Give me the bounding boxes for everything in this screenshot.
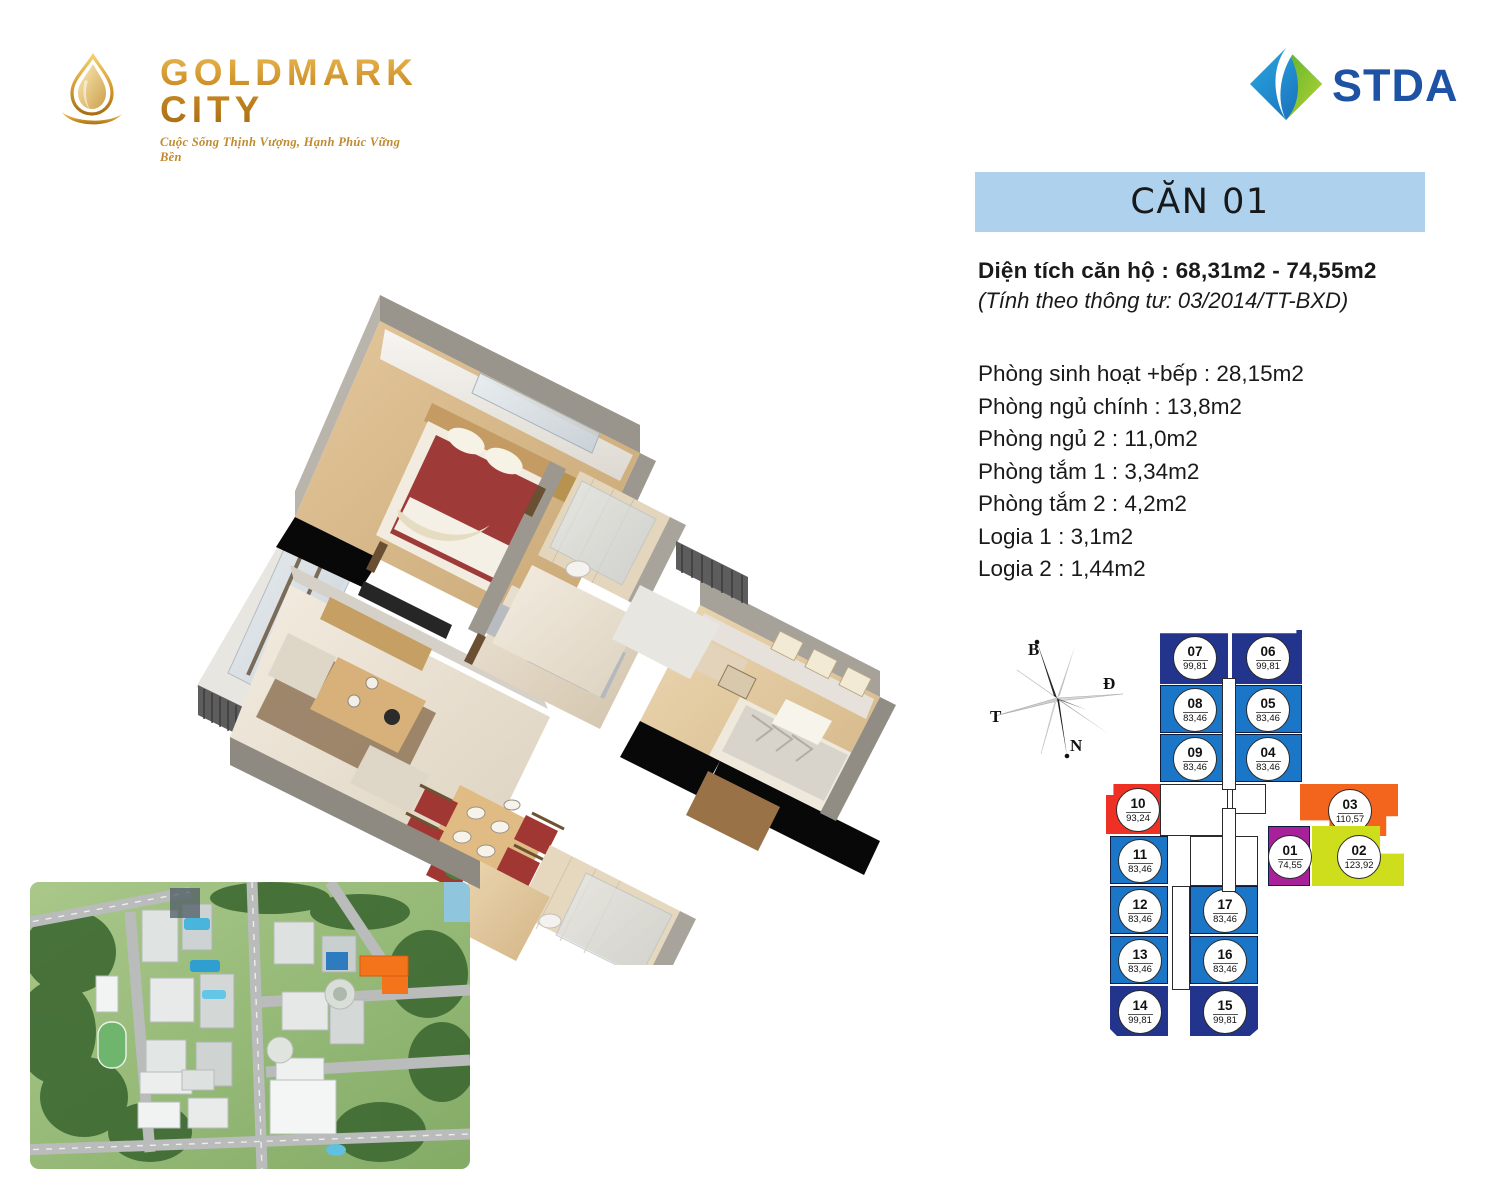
room-area-row: Phòng ngủ 2 : 11,0m2 [978, 423, 1448, 456]
unit-number: 07 [1187, 645, 1202, 659]
room-area-row: Logia 1 : 3,1m2 [978, 521, 1448, 554]
room-area-row: Logia 2 : 1,44m2 [978, 553, 1448, 586]
developer-logo: STDA [1246, 44, 1451, 126]
brand-tagline: Cuộc Sống Thịnh Vượng, Hạnh Phúc Vững Bề… [160, 135, 418, 165]
render-table-bowl-1 [366, 677, 378, 689]
room-area-row: Phòng sinh hoạt +bếp : 28,15m2 [978, 358, 1448, 391]
unit-area: 83,46 [1213, 965, 1237, 975]
floor-key-plan: 0799,810699,810883,460583,460983,460483,… [1110, 628, 1415, 1038]
keyplan-corridor-vertical-bottom [1172, 886, 1190, 990]
page-title: CĂN 01 [975, 172, 1425, 232]
unit-area: 83,46 [1128, 865, 1152, 875]
keyplan-unit-badge-14: 1499,81 [1118, 990, 1162, 1034]
room-area-row: Phòng ngủ chính : 13,8m2 [978, 391, 1448, 424]
stda-diamond-icon [1246, 44, 1326, 124]
unit-area: 83,46 [1213, 915, 1237, 925]
unit-area: 74,55 [1278, 861, 1302, 871]
unit-area: 99,81 [1213, 1016, 1237, 1026]
unit-number: 12 [1132, 898, 1147, 912]
sitemap-sports-field [98, 1022, 126, 1068]
unit-area: 99,81 [1256, 662, 1280, 672]
unit-number: 05 [1260, 697, 1275, 711]
sitemap-river [444, 882, 470, 922]
page-title-label: CĂN 01 [1130, 182, 1269, 222]
developer-name: STDA [1332, 60, 1459, 112]
unit-number: 10 [1130, 797, 1145, 811]
unit-number: 14 [1132, 999, 1147, 1013]
total-area-label: Diện tích căn hộ : 68,31m2 - 74,55m2 [978, 258, 1448, 284]
keyplan-unit-badge-15: 1599,81 [1203, 990, 1247, 1034]
keyplan-unit-badge-08: 0883,46 [1173, 688, 1217, 732]
render-table-bowl-2 [348, 695, 360, 707]
keyplan-unit-badge-12: 1283,46 [1118, 889, 1162, 933]
unit-area: 99,81 [1183, 662, 1207, 672]
compass-north-label: B [1028, 640, 1039, 660]
keyplan-core-upper-right [1232, 784, 1266, 814]
sitemap-water [326, 1144, 346, 1156]
unit-area: 110,57 [1336, 815, 1364, 825]
keyplan-unit-badge-17: 1783,46 [1203, 889, 1247, 933]
unit-number: 09 [1187, 746, 1202, 760]
keyplan-unit-badge-10: 1093,24 [1116, 788, 1160, 832]
area-regulation-note: (Tính theo thông tư: 03/2014/TT-BXD) [978, 288, 1448, 314]
brand-wordmark: GOLDMARK CITY Cuộc Sống Thịnh Vượng, Hạn… [160, 54, 418, 165]
apartment-area-block: Diện tích căn hộ : 68,31m2 - 74,55m2 (Tí… [978, 258, 1448, 314]
unit-number: 04 [1260, 746, 1275, 760]
keyplan-corridor-vertical-mid [1222, 808, 1236, 892]
unit-number: 08 [1187, 697, 1202, 711]
keyplan-unit-badge-13: 1383,46 [1118, 939, 1162, 983]
unit-area: 83,46 [1128, 965, 1152, 975]
keyplan-corridor-vertical-top [1222, 678, 1236, 790]
unit-area: 83,46 [1183, 714, 1207, 724]
unit-number: 13 [1132, 948, 1147, 962]
unit-area: 83,46 [1128, 915, 1152, 925]
keyplan-unit-badge-09: 0983,46 [1173, 737, 1217, 781]
render-table-decor [384, 709, 400, 725]
unit-number: 16 [1217, 948, 1232, 962]
keyplan-unit-badge-05: 0583,46 [1246, 688, 1290, 732]
unit-area: 83,46 [1183, 763, 1207, 773]
unit-area: 93,24 [1126, 814, 1150, 824]
unit-number: 11 [1133, 848, 1147, 862]
flame-leaf-icon [52, 50, 130, 130]
unit-number: 06 [1260, 645, 1275, 659]
keyplan-unit-badge-01: 0174,55 [1268, 835, 1312, 879]
unit-number: 03 [1342, 798, 1357, 812]
room-area-list: Phòng sinh hoạt +bếp : 28,15m2Phòng ngủ … [978, 358, 1448, 586]
unit-area: 123,92 [1344, 861, 1373, 871]
render-toilet [566, 561, 590, 577]
keyplan-unit-badge-04: 0483,46 [1246, 737, 1290, 781]
unit-area: 83,46 [1256, 714, 1280, 724]
brand-name: GOLDMARK CITY [160, 54, 418, 128]
keyplan-unit-badge-02: 02123,92 [1337, 835, 1381, 879]
site-masterplan-inset [30, 882, 470, 1169]
keyplan-core-upper-left [1160, 784, 1228, 836]
render-bath2-toilet [539, 914, 561, 928]
keyplan-unit-badge-06: 0699,81 [1246, 636, 1290, 680]
unit-number: 01 [1282, 844, 1297, 858]
keyplan-unit-badge-16: 1683,46 [1203, 939, 1247, 983]
compass-south-label: N [1070, 736, 1082, 756]
brand-logo: GOLDMARK CITY Cuộc Sống Thịnh Vượng, Hạn… [52, 46, 412, 134]
unit-number: 15 [1217, 999, 1232, 1013]
room-area-row: Phòng tắm 2 : 4,2m2 [978, 488, 1448, 521]
unit-area: 83,46 [1256, 763, 1280, 773]
unit-number: 02 [1351, 844, 1366, 858]
compass-west-label: T [990, 707, 1001, 727]
unit-area: 99,81 [1128, 1016, 1152, 1026]
apartment-3d-render [80, 285, 920, 965]
keyplan-unit-badge-11: 1183,46 [1118, 839, 1162, 883]
room-area-row: Phòng tắm 1 : 3,34m2 [978, 456, 1448, 489]
unit-number: 17 [1217, 898, 1232, 912]
keyplan-unit-badge-07: 0799,81 [1173, 636, 1217, 680]
